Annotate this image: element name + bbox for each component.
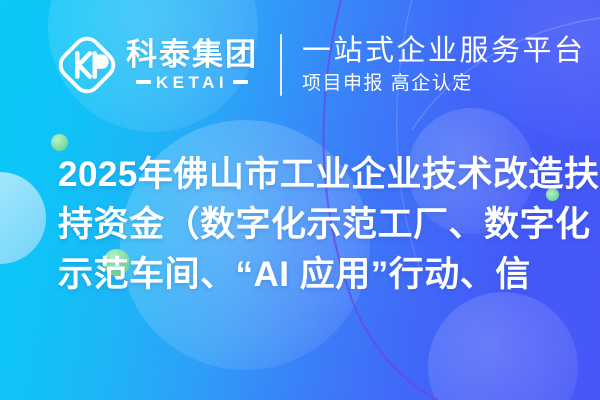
dash-left-icon xyxy=(136,80,151,84)
header-divider xyxy=(280,34,282,96)
background-circle-right-lower xyxy=(428,292,578,400)
title-line-1: 2025年佛山市工业企业技术改造扶 xyxy=(58,150,574,200)
brand-wordmark: 科泰集团 KETAI xyxy=(126,39,258,91)
ketai-diamond-kp-logo-icon xyxy=(56,34,118,96)
slogan-main: 一站式企业服务平台 xyxy=(302,34,586,68)
title-line-2: 持资金（数字化示范工厂、数字化 xyxy=(58,200,574,250)
slogan-block: 一站式企业服务平台 项目申报 高企认定 xyxy=(302,34,586,96)
brand-name-en: KETAI xyxy=(156,74,228,91)
page-title: 2025年佛山市工业企业技术改造扶 持资金（数字化示范工厂、数字化 示范车间、“… xyxy=(58,150,574,300)
background-circle-left xyxy=(0,172,46,264)
brand-name-cn: 科泰集团 xyxy=(126,39,258,71)
slogan-sub: 项目申报 高企认定 xyxy=(302,72,586,96)
dash-right-icon xyxy=(233,80,248,84)
brand-name-en-row: KETAI xyxy=(136,74,248,91)
banner-header: 科泰集团 KETAI 一站式企业服务平台 项目申报 高企认定 xyxy=(0,0,600,130)
promo-banner: 科泰集团 KETAI 一站式企业服务平台 项目申报 高企认定 2025年佛山市工… xyxy=(0,0,600,400)
brand-logo: 科泰集团 KETAI xyxy=(56,34,258,96)
title-line-3: 示范车间、“AI 应用”行动、信 xyxy=(58,250,574,300)
decorative-dot-green-1 xyxy=(51,134,68,151)
